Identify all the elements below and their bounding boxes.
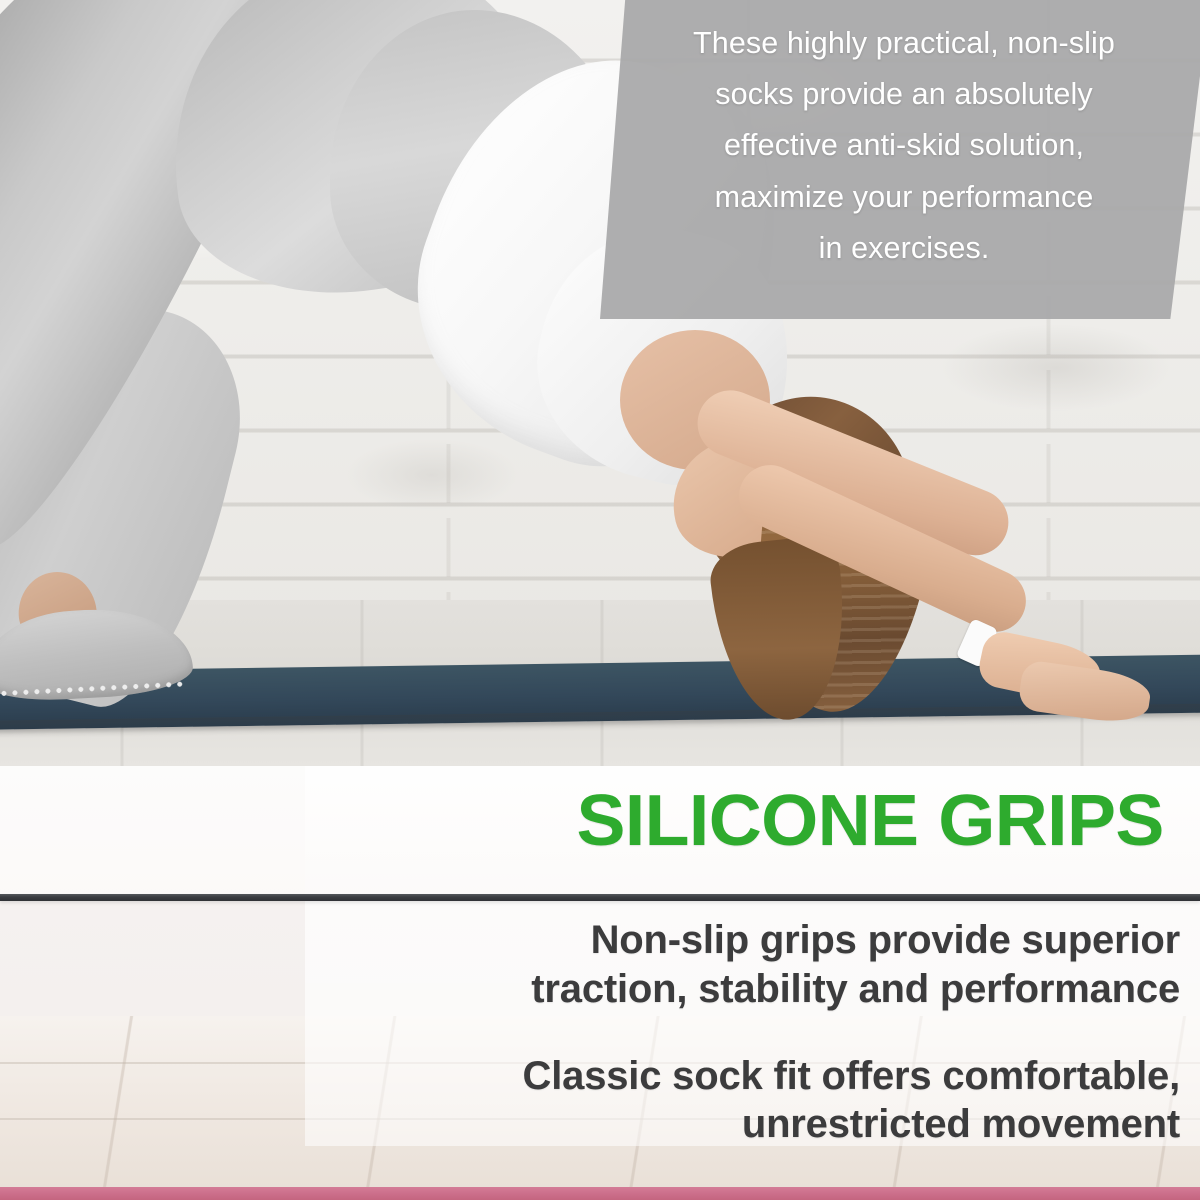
feature-list: Non-slip grips provide superiortraction,… <box>300 916 1180 1149</box>
feature-item-fit: Classic sock fit offers comfortable,unre… <box>300 1052 1180 1150</box>
overlay-caption: These highly practical, non-slip socks p… <box>614 8 1194 318</box>
overlay-line-5: in exercises. <box>614 223 1194 274</box>
section-divider <box>0 894 1200 901</box>
hero-photo: These highly practical, non-slip socks p… <box>0 0 1200 766</box>
overlay-line-3: effective anti-skid solution, <box>614 120 1194 171</box>
lower-text-section: SILICONE GRIPS Non-slip grips provide su… <box>0 766 1200 1200</box>
overlay-line-4: maximize your performance <box>614 172 1194 223</box>
product-banner: These highly practical, non-slip socks p… <box>0 0 1200 1200</box>
overlay-line-1: These highly practical, non-slip <box>614 18 1194 69</box>
page-title: SILICONE GRIPS <box>577 780 1164 862</box>
bottom-accent-bar <box>0 1187 1200 1200</box>
overlay-line-2: socks provide an absolutely <box>614 69 1194 120</box>
feature-item-traction: Non-slip grips provide superiortraction,… <box>300 916 1180 1014</box>
